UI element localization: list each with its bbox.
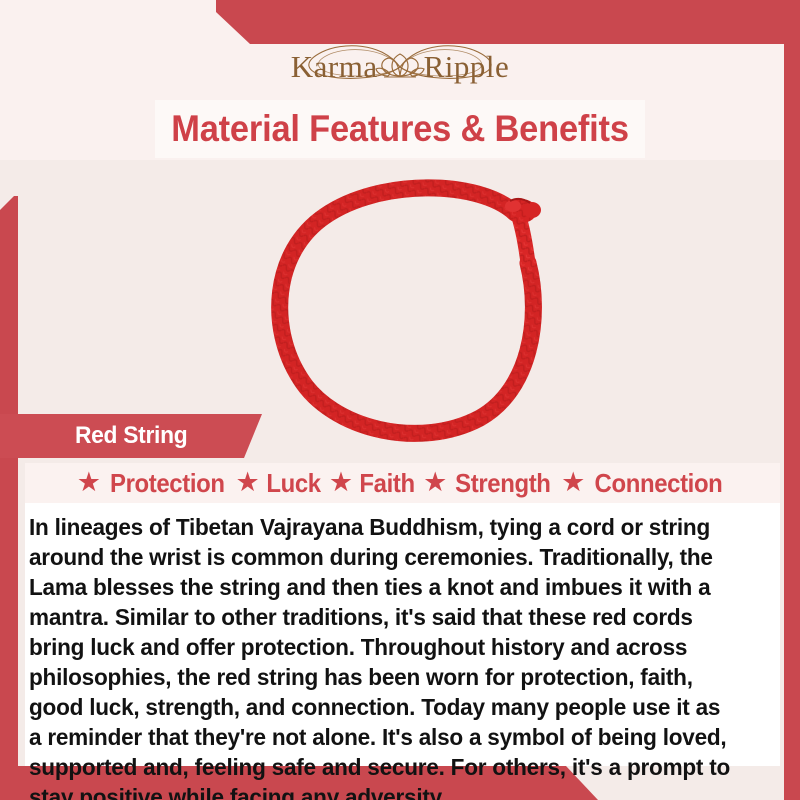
feature-label: Protection	[110, 468, 225, 499]
feature-item-protection: ★ Protection	[77, 468, 230, 499]
page-title: Material Features & Benefits	[171, 108, 629, 150]
material-label-wrap: Red String	[0, 414, 262, 458]
feature-item-luck: ★ Luck	[236, 468, 323, 499]
feature-item-faith: ★ Faith	[329, 468, 417, 499]
infographic-page: Karma Ripple Material Features & Benefit…	[0, 0, 800, 800]
feature-label: Strength	[456, 468, 551, 499]
feature-label: Connection	[595, 468, 723, 499]
brand-name-left: Karma	[291, 49, 378, 85]
brand-logo: Karma Ripple	[0, 36, 800, 98]
features-list: ★ Protection ★ Luck ★ Faith ★ Strength ★…	[25, 463, 780, 503]
star-icon: ★	[236, 469, 260, 496]
feature-label: Faith	[359, 468, 414, 499]
feature-item-strength: ★ Strength	[423, 468, 555, 499]
star-icon: ★	[561, 469, 585, 496]
brand-name-right: Ripple	[424, 49, 510, 85]
title-strip: Material Features & Benefits	[155, 100, 645, 158]
description-panel: In lineages of Tibetan Vajrayana Buddhis…	[25, 503, 780, 766]
right-red-edge	[784, 0, 800, 800]
left-red-edge	[0, 196, 18, 800]
feature-label: Luck	[266, 468, 320, 499]
star-icon: ★	[423, 469, 447, 496]
material-label: Red String	[75, 422, 187, 450]
star-icon: ★	[77, 469, 101, 496]
feature-item-connection: ★ Connection	[561, 468, 728, 499]
bracelet-knot	[505, 199, 541, 223]
product-image	[230, 168, 610, 468]
description-text: In lineages of Tibetan Vajrayana Buddhis…	[29, 512, 737, 800]
star-icon: ★	[329, 469, 353, 496]
